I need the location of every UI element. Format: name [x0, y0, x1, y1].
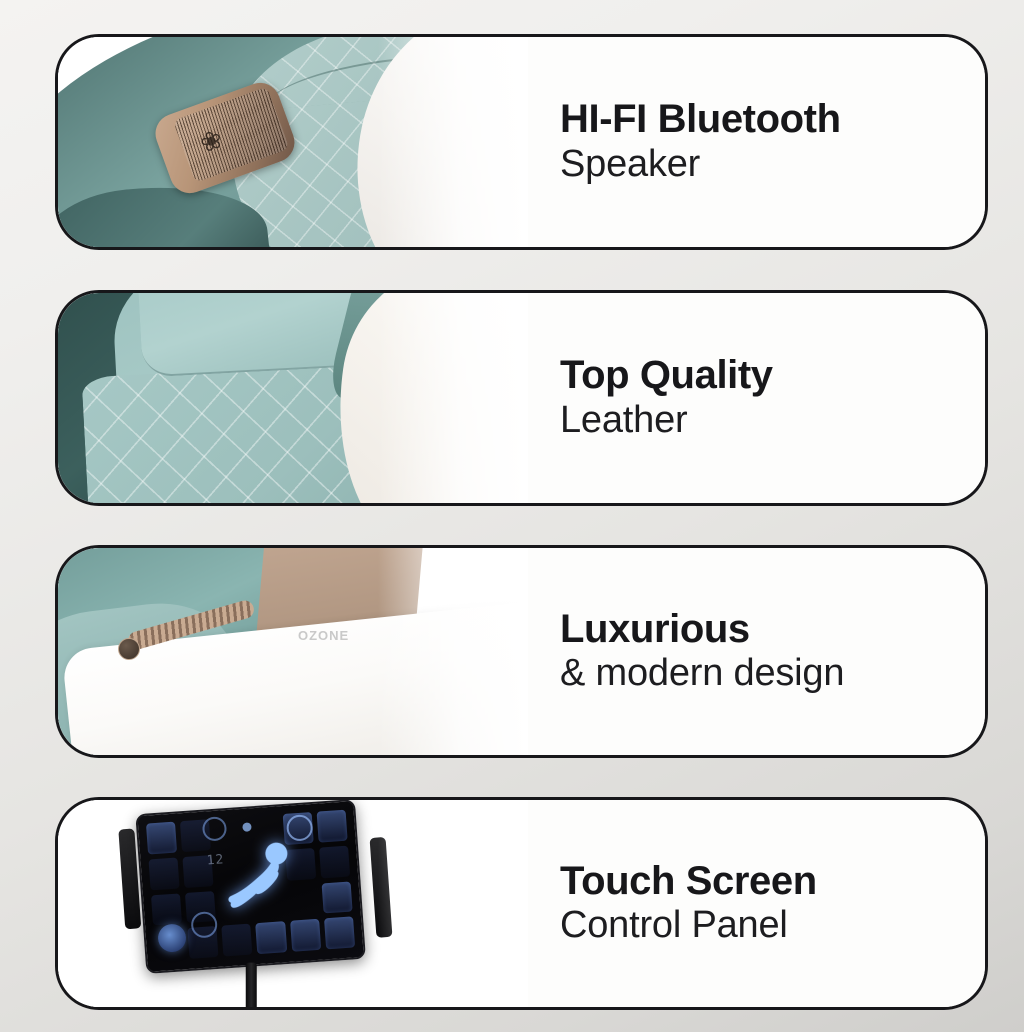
feature-text-block: HI-FI Bluetooth Speaker: [528, 37, 985, 247]
feature-subline: Speaker: [560, 142, 985, 187]
remote-control-assembly: 12: [121, 800, 394, 1007]
feature-card-luxurious-modern-design[interactable]: OZONE Luxurious & modern design: [55, 545, 988, 758]
feature-headline: HI-FI Bluetooth: [560, 97, 985, 142]
feature-headline: Touch Screen: [560, 859, 985, 904]
feature-image-top-quality-leather: [58, 293, 528, 503]
timer-readout: 12: [206, 852, 225, 868]
feature-subline: & modern design: [560, 651, 985, 696]
feature-card-top-quality-leather[interactable]: Top Quality Leather: [55, 290, 988, 506]
feature-headline: Top Quality: [560, 353, 985, 398]
chair-brand-mark-icon: OZONE: [298, 628, 349, 643]
control-key[interactable]: [148, 857, 179, 890]
control-key[interactable]: [319, 845, 350, 878]
control-key[interactable]: [324, 917, 355, 950]
control-key[interactable]: [222, 924, 253, 957]
feature-image-luxurious-modern-design: OZONE: [58, 548, 528, 755]
control-key[interactable]: [151, 893, 182, 926]
control-key[interactable]: [256, 921, 287, 954]
feature-text-block: Touch Screen Control Panel: [528, 800, 985, 1007]
control-key[interactable]: [316, 810, 347, 843]
remote-stand-stem-icon: [246, 963, 257, 1007]
feature-subline: Leather: [560, 398, 985, 443]
reclined-body-figure-icon: [224, 839, 301, 922]
feature-subline: Control Panel: [560, 903, 985, 948]
feature-card-touch-screen-control-panel[interactable]: 12 Touch Screen Control Panel: [55, 797, 988, 1010]
image-fade-overlay: [378, 800, 528, 1007]
image-fade-overlay: [378, 293, 528, 503]
feature-image-hifi-bluetooth-speaker: ❀: [58, 37, 528, 247]
feature-text-block: Top Quality Leather: [528, 293, 985, 503]
feature-image-touch-screen-control-panel: 12: [58, 800, 528, 1007]
feature-text-block: Luxurious & modern design: [528, 548, 985, 755]
control-knob-icon: [118, 638, 140, 660]
feature-headline: Luxurious: [560, 607, 985, 652]
image-fade-overlay: [378, 37, 528, 247]
feature-card-hifi-bluetooth-speaker[interactable]: ❀ HI-FI Bluetooth Speaker: [55, 34, 988, 250]
touch-screen-display[interactable]: 12: [135, 800, 366, 974]
image-fade-overlay: [378, 548, 528, 755]
control-key[interactable]: [146, 822, 177, 855]
feature-highlights-page: ❀ HI-FI Bluetooth Speaker Top Quality Le…: [0, 0, 1024, 1032]
control-key[interactable]: [290, 919, 321, 952]
control-key[interactable]: [321, 881, 352, 914]
